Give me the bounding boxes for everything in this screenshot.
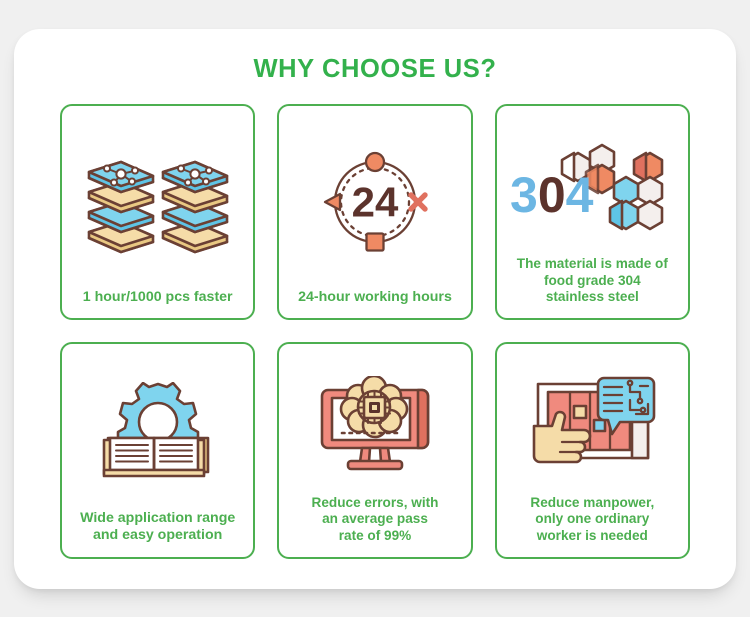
label-line: worker is needed	[507, 528, 678, 545]
label-line: food grade 304	[507, 273, 678, 290]
gear-book-icon	[68, 356, 247, 508]
feature-card-accuracy[interactable]: Reduce errors, with an average pass rate…	[277, 342, 472, 559]
label-line: an average pass	[289, 511, 460, 528]
label-line: stainless steel	[507, 289, 678, 306]
page-title: WHY CHOOSE US?	[48, 55, 702, 84]
label-line: Reduce errors, with	[289, 495, 460, 512]
feature-card-label: The material is made of food grade 304 s…	[503, 254, 682, 308]
label-line: Reduce manpower,	[507, 495, 678, 512]
monitor-ai-brain-icon	[285, 356, 464, 493]
label-line: rate of 99%	[289, 528, 460, 545]
feature-card-speed[interactable]: 1 hour/1000 pcs faster	[60, 104, 255, 321]
icon-number-304: 304	[510, 167, 594, 223]
label-line: Wide application range	[72, 510, 243, 527]
label-line: only one ordinary	[507, 511, 678, 528]
24-hour-cycle-icon: 24	[285, 118, 464, 287]
feature-card-material[interactable]: 304 The material is made of food grade 3…	[495, 104, 690, 321]
label-line: The material is made of	[507, 256, 678, 273]
label-line: and easy operation	[72, 527, 243, 544]
human-robot-hand-icon	[503, 356, 682, 493]
label-line: 24-hour working hours	[289, 289, 460, 306]
feature-card-label: Reduce manpower, only one ordinary worke…	[503, 493, 682, 547]
stacked-layers-icon	[68, 118, 247, 287]
feature-card-label: 24-hour working hours	[285, 287, 464, 308]
label-line: 1 hour/1000 pcs faster	[72, 289, 243, 306]
why-choose-us-panel: WHY CHOOSE US?	[14, 29, 736, 589]
icon-number-24: 24	[352, 179, 399, 226]
feature-card-application[interactable]: Wide application range and easy operatio…	[60, 342, 255, 559]
feature-card-working-hours[interactable]: 24 24-hour working hours	[277, 104, 472, 321]
feature-card-label: Wide application range and easy operatio…	[68, 508, 247, 547]
feature-card-grid: 1 hour/1000 pcs faster	[48, 104, 702, 559]
feature-card-label: 1 hour/1000 pcs faster	[68, 287, 247, 308]
feature-card-label: Reduce errors, with an average pass rate…	[285, 493, 464, 547]
feature-card-manpower[interactable]: Reduce manpower, only one ordinary worke…	[495, 342, 690, 559]
hexagon-cluster-icon: 304	[503, 118, 682, 255]
